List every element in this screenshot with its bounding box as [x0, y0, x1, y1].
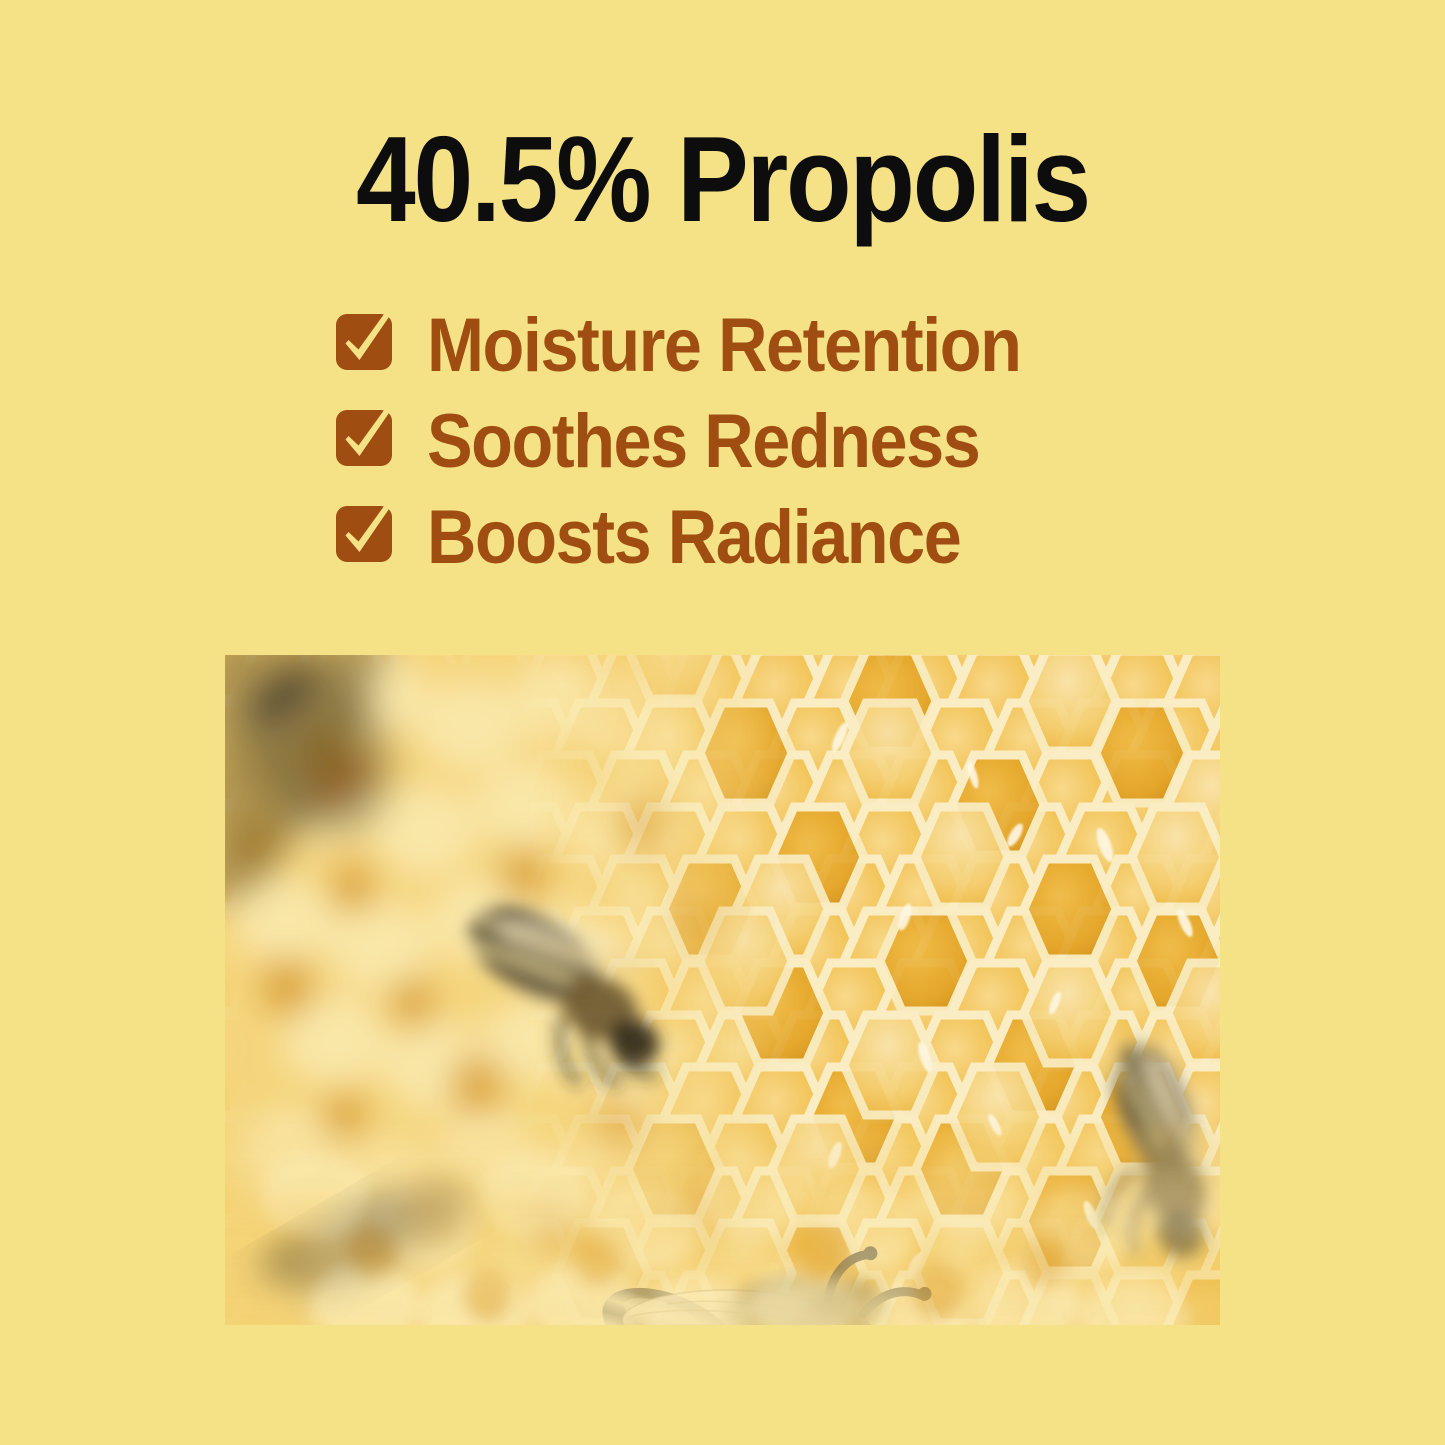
page-title: 40.5% Propolis: [87, 118, 1359, 240]
check-square-icon: [336, 314, 392, 374]
list-item-label: Boosts Radiance: [427, 502, 960, 574]
list-item-label: Moisture Retention: [427, 310, 1020, 382]
check-square-icon: [336, 506, 392, 566]
honeycomb-illustration: [225, 655, 1220, 1325]
list-item: Moisture Retention: [336, 310, 1236, 406]
list-item-label: Soothes Redness: [427, 406, 979, 478]
product-infographic: 40.5% Propolis Moisture Retention Soothe…: [0, 0, 1445, 1445]
list-item: Boosts Radiance: [336, 502, 1236, 598]
list-item: Soothes Redness: [336, 406, 1236, 502]
benefit-list: Moisture Retention Soothes Redness Boost…: [336, 310, 1236, 598]
honeycomb-bees-photo: [225, 655, 1220, 1325]
check-square-icon: [336, 410, 392, 470]
